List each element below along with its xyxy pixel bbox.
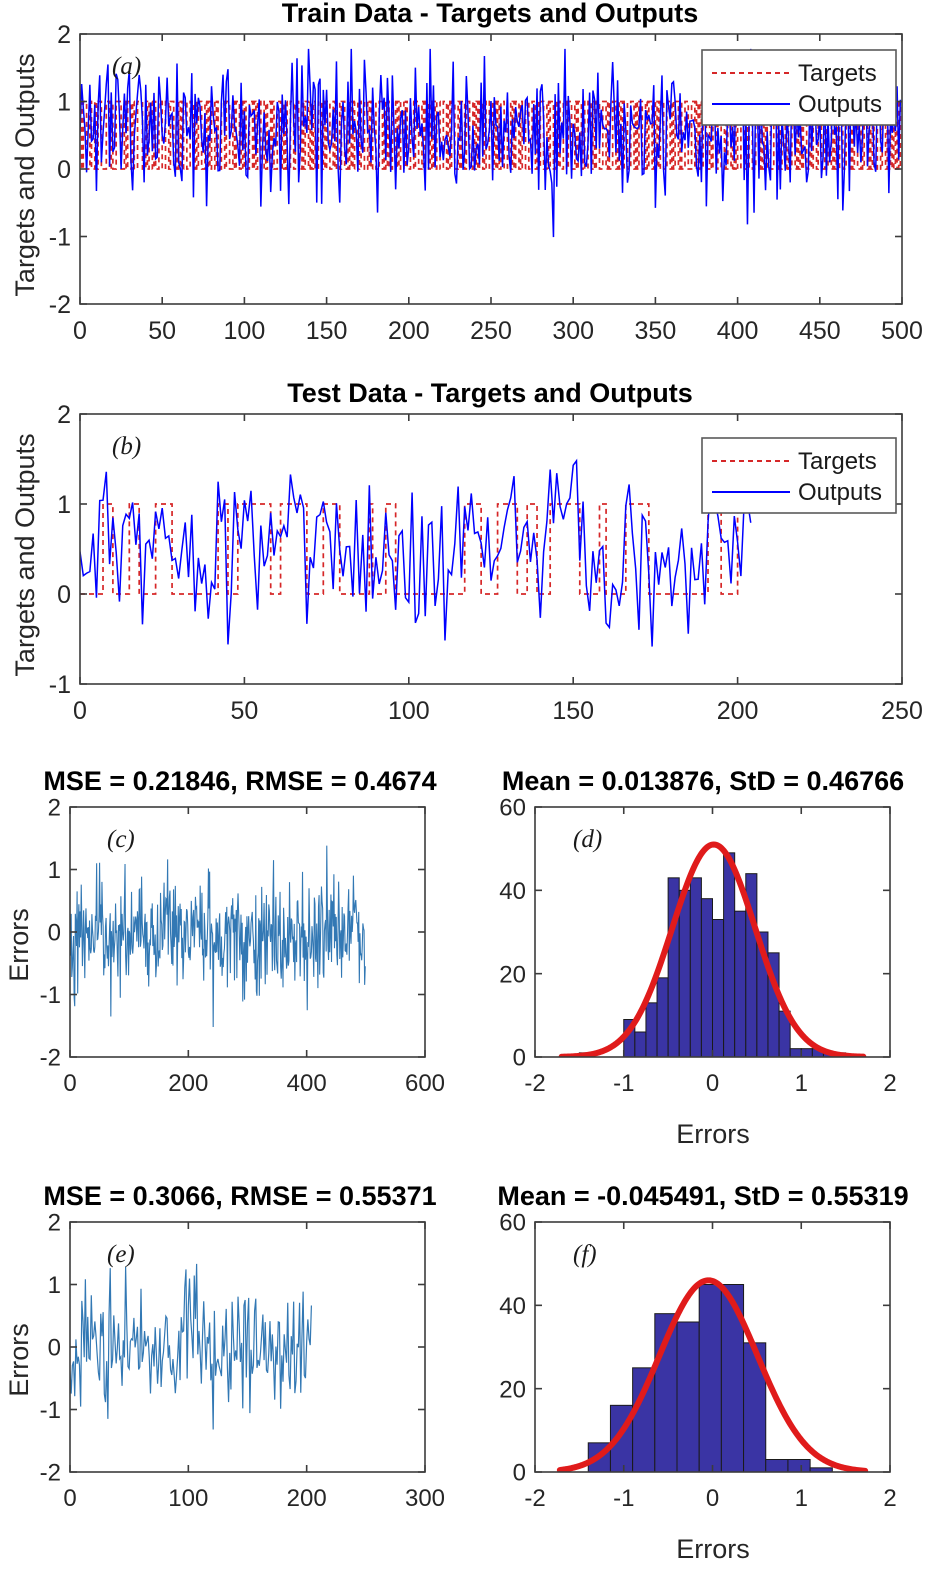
histogram-bar	[735, 911, 746, 1057]
x-tick-label: 0	[73, 317, 87, 345]
panel-b-outputs-series	[80, 461, 751, 647]
y-tick-label: 0	[513, 1460, 526, 1487]
histogram-bar	[633, 1368, 655, 1472]
x-tick-label: 300	[552, 317, 594, 345]
panel-f-plot-area: -2-1012 0204060	[499, 1210, 896, 1512]
y-tick-label: 1	[48, 1272, 61, 1299]
x-tick-label: 2	[883, 1070, 896, 1097]
panel-a-legend-outputs-label: Outputs	[798, 91, 882, 118]
x-tick-label: 350	[635, 317, 677, 345]
x-tick-label: 1	[795, 1485, 808, 1512]
x-tick-label: 100	[388, 697, 430, 725]
panel-b-targets-series	[80, 504, 751, 594]
matlab-figure: Train Data - Targets and Outputs Targets…	[0, 0, 926, 1571]
panel-c-y-tick-labels: -2-1012	[40, 795, 61, 1072]
y-tick-label: 2	[57, 21, 71, 49]
x-tick-label: 50	[148, 317, 176, 345]
x-tick-label: 500	[881, 317, 923, 345]
x-tick-label: 250	[881, 697, 923, 725]
panel-a-ylabel-group: Targets and Outputs	[10, 53, 40, 296]
panel-f-xlabel: Errors	[676, 1534, 750, 1564]
panel-c-x-tick-labels: 0200400600	[63, 1070, 445, 1097]
panel-e-x-tick-labels: 0100200300	[63, 1485, 445, 1512]
panel-d-plot-area: -2-1012 0204060	[499, 795, 896, 1097]
panel-d-title: Mean = 0.013876, StD = 0.46766	[502, 766, 904, 796]
panel-b-test-data: Test Data - Targets and Outputs Targets …	[0, 380, 926, 748]
x-tick-label: -2	[524, 1070, 545, 1097]
y-tick-label: -1	[40, 1397, 61, 1424]
y-tick-label: 1	[57, 491, 71, 519]
histogram-bar	[677, 1322, 699, 1472]
x-tick-label: 150	[306, 317, 348, 345]
histogram-bar	[635, 1032, 646, 1057]
x-tick-label: -1	[613, 1070, 634, 1097]
y-tick-label: 2	[57, 401, 71, 429]
histogram-bar	[766, 1460, 788, 1473]
x-tick-label: 300	[405, 1485, 445, 1512]
x-tick-label: 200	[287, 1485, 327, 1512]
x-tick-label: 400	[287, 1070, 327, 1097]
panel-e-title: MSE = 0.3066, RMSE = 0.55371	[43, 1181, 436, 1211]
histogram-bar	[713, 920, 724, 1058]
histogram-bar	[679, 890, 690, 1057]
y-tick-label: -2	[49, 291, 71, 319]
x-tick-label: 200	[168, 1070, 208, 1097]
histogram-bar	[646, 1003, 657, 1057]
panel-a-tag: (a)	[112, 53, 141, 80]
panel-b-x-tick-labels: 050100150200250	[73, 697, 923, 725]
panel-e-ylabel: Errors	[4, 1323, 34, 1397]
x-tick-label: 0	[706, 1485, 719, 1512]
x-tick-label: 2	[883, 1485, 896, 1512]
y-tick-label: -1	[40, 982, 61, 1009]
x-tick-label: 250	[470, 317, 512, 345]
panel-c-errors-series	[70, 846, 365, 1027]
panel-e-plot-area: 0100200300 -2-1012	[40, 1210, 445, 1512]
histogram-bar	[690, 878, 701, 1057]
histogram-bar	[701, 899, 712, 1057]
panel-a-train-data: Train Data - Targets and Outputs Targets…	[0, 0, 926, 368]
panel-b-legend[interactable]: Targets Outputs	[702, 438, 896, 513]
panel-a-ylabel: Targets and Outputs	[10, 53, 40, 296]
histogram-bar	[699, 1285, 721, 1473]
y-tick-label: 0	[513, 1045, 526, 1072]
x-tick-label: -1	[613, 1485, 634, 1512]
panel-e-y-tick-labels: -2-1012	[40, 1210, 61, 1487]
panel-b-ylabel: Targets and Outputs	[10, 433, 40, 676]
panel-d-x-tick-labels: -2-1012	[524, 1070, 896, 1097]
panel-c-title: MSE = 0.21846, RMSE = 0.4674	[43, 766, 436, 796]
histogram-bar	[788, 1460, 810, 1473]
y-tick-label: 2	[48, 795, 61, 822]
panel-b-title: Test Data - Targets and Outputs	[287, 378, 693, 408]
y-tick-label: 0	[57, 156, 71, 184]
panel-b-y-tick-labels: -1012	[49, 401, 71, 699]
panel-f-histogram-bars	[588, 1285, 832, 1473]
y-tick-label: 0	[48, 1335, 61, 1362]
panel-a-legend[interactable]: Targets Outputs	[702, 50, 896, 125]
x-tick-label: 0	[63, 1070, 76, 1097]
panel-c-train-errors: MSE = 0.21846, RMSE = 0.4674 Errors 0200…	[0, 765, 463, 1165]
y-tick-label: 1	[48, 857, 61, 884]
panel-c-plot-area: 0200400600 -2-1012	[40, 795, 445, 1097]
x-tick-label: 0	[73, 697, 87, 725]
x-tick-label: 450	[799, 317, 841, 345]
histogram-bar	[801, 1049, 812, 1057]
x-tick-label: 600	[405, 1070, 445, 1097]
x-tick-label: 100	[168, 1485, 208, 1512]
panel-a-title: Train Data - Targets and Outputs	[282, 0, 699, 28]
panel-b-tag: (b)	[112, 433, 141, 460]
panel-d-tag: (d)	[573, 826, 602, 853]
panel-c-tag: (c)	[107, 826, 135, 853]
y-tick-label: 60	[499, 1210, 526, 1237]
panel-e-errors-series	[70, 1264, 311, 1430]
y-tick-label: -1	[49, 224, 71, 252]
panel-e-tag: (e)	[107, 1241, 135, 1268]
histogram-bar	[657, 978, 668, 1057]
x-tick-label: 50	[230, 697, 258, 725]
y-tick-label: 20	[499, 1376, 526, 1403]
x-tick-label: 1	[795, 1070, 808, 1097]
x-tick-label: 0	[63, 1485, 76, 1512]
panel-f-tag: (f)	[573, 1241, 597, 1268]
panel-f-y-tick-labels: 0204060	[499, 1210, 526, 1487]
panel-b-legend-outputs-label: Outputs	[798, 479, 882, 506]
x-tick-label: 200	[388, 317, 430, 345]
histogram-bar	[724, 853, 735, 1057]
panel-c-ylabel: Errors	[4, 908, 34, 982]
y-tick-label: -2	[40, 1045, 61, 1072]
y-tick-label: 60	[499, 795, 526, 822]
y-tick-label: 1	[57, 89, 71, 117]
histogram-bar	[790, 1049, 801, 1057]
y-tick-label: 40	[499, 1293, 526, 1320]
panel-f-test-error-hist: Mean = -0.045491, StD = 0.55319 -2-1012 …	[463, 1180, 926, 1571]
panel-f-title: Mean = -0.045491, StD = 0.55319	[497, 1181, 908, 1211]
y-tick-label: -2	[40, 1460, 61, 1487]
panel-a-y-tick-labels: -2-1012	[49, 21, 71, 319]
y-tick-label: 0	[57, 581, 71, 609]
y-tick-label: 0	[48, 920, 61, 947]
panel-d-xlabel: Errors	[676, 1119, 750, 1149]
panel-d-y-tick-labels: 0204060	[499, 795, 526, 1072]
x-tick-label: 400	[717, 317, 759, 345]
panel-f-x-tick-labels: -2-1012	[524, 1485, 896, 1512]
panel-a-legend-targets-label: Targets	[798, 60, 877, 87]
y-tick-label: 20	[499, 961, 526, 988]
x-tick-label: 100	[224, 317, 266, 345]
panel-b-legend-targets-label: Targets	[798, 448, 877, 475]
panel-e-test-errors: MSE = 0.3066, RMSE = 0.55371 Errors 0100…	[0, 1180, 463, 1571]
panel-a-x-tick-labels: 050100150200250300350400450500	[73, 317, 923, 345]
panel-d-histogram-bars	[579, 853, 845, 1057]
panel-d-train-error-hist: Mean = 0.013876, StD = 0.46766 -2-1012 0…	[463, 765, 926, 1165]
x-tick-label: 150	[552, 697, 594, 725]
y-tick-label: 40	[499, 878, 526, 905]
y-tick-label: 2	[48, 1210, 61, 1237]
x-tick-label: 200	[717, 697, 759, 725]
y-tick-label: -1	[49, 671, 71, 699]
x-tick-label: -2	[524, 1485, 545, 1512]
x-tick-label: 0	[706, 1070, 719, 1097]
